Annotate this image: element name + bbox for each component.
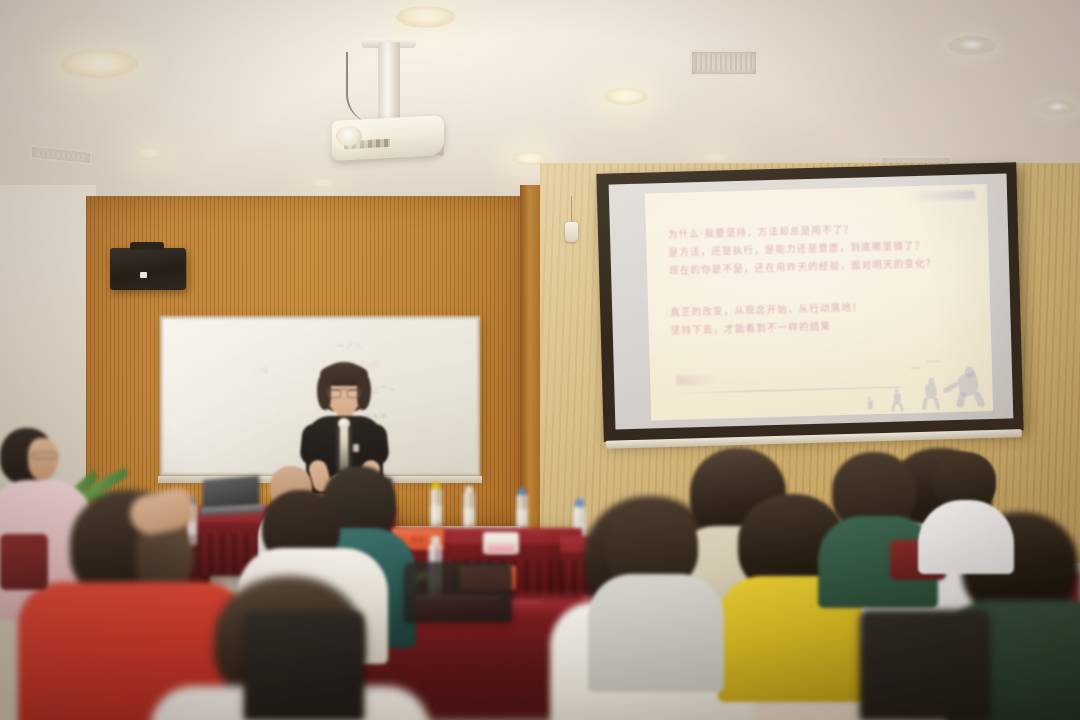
speaker-indicator-light [140,272,147,278]
conference-room-photo: ～ ／ ＼ ○ → □ △ ⌒ ∽ ⌐ ∨ ＝ · ~ ʅ 为什么·我要坚持，方… [0,0,1080,720]
ceiling-air-vent [690,50,758,76]
whiteboard-note: · ~ ʅ [255,367,267,374]
projector-lens [336,126,362,146]
downlight [310,178,336,188]
slide-corner-accent [907,190,975,201]
handheld-microphone [340,422,348,472]
wall-speaker [110,248,186,290]
audience-member-back-right [918,452,1014,562]
glasses-left-lens [327,390,341,398]
chair-cushion [0,534,48,590]
bottle-cap [432,482,440,489]
chair-back [404,562,512,622]
bottle-label [463,508,475,524]
downlight [396,6,456,28]
bottle-label [430,505,442,522]
projection-screen: 为什么·我要坚持，方法却总是用不了？ 是方法，还是执行，是能力还是意愿，到底哪里… [596,162,1023,442]
bottle-cap [465,486,473,493]
downlight [60,50,138,78]
bottle-cap [431,536,440,545]
downlight [948,36,996,55]
ceiling-sensor [565,222,578,242]
downlight [700,152,730,163]
torso [918,500,1014,574]
whiteboard-note: ～ ／ ＼ [337,341,362,351]
slide-faint-mark [676,375,716,386]
downlight [1038,100,1076,115]
sensor-hanging-wire [571,196,572,224]
speaker-bracket [130,242,164,250]
chair-back [244,612,364,720]
bottle-label [516,509,528,525]
presenter-badge [353,444,359,452]
face [28,438,58,480]
projector-mount-pole [378,42,400,124]
vent-grille [35,150,87,159]
presentation-slide: 为什么·我要坚持，方法却总是用不了？ 是方法，还是执行，是能力还是意愿，到底哪里… [645,184,993,420]
downlight [135,148,165,159]
glasses-icon [32,452,58,459]
presenter-glasses [326,389,362,397]
vent-grille [695,55,753,71]
tissue-box-lid [487,544,515,553]
audience-member-hand-on-head [130,486,210,556]
glasses-right-lens [347,390,361,398]
microphone-head [338,418,350,429]
downlight [604,88,648,105]
audience-member-grey-shirt-right [588,502,724,682]
bottle-cap [518,488,526,495]
screen-surface: 为什么·我要坚持，方法却总是用不了？ 是方法，还是执行，是能力还是意愿，到底哪里… [609,173,1014,429]
torso [588,574,724,692]
hand [127,486,198,538]
chair-back [860,610,990,720]
